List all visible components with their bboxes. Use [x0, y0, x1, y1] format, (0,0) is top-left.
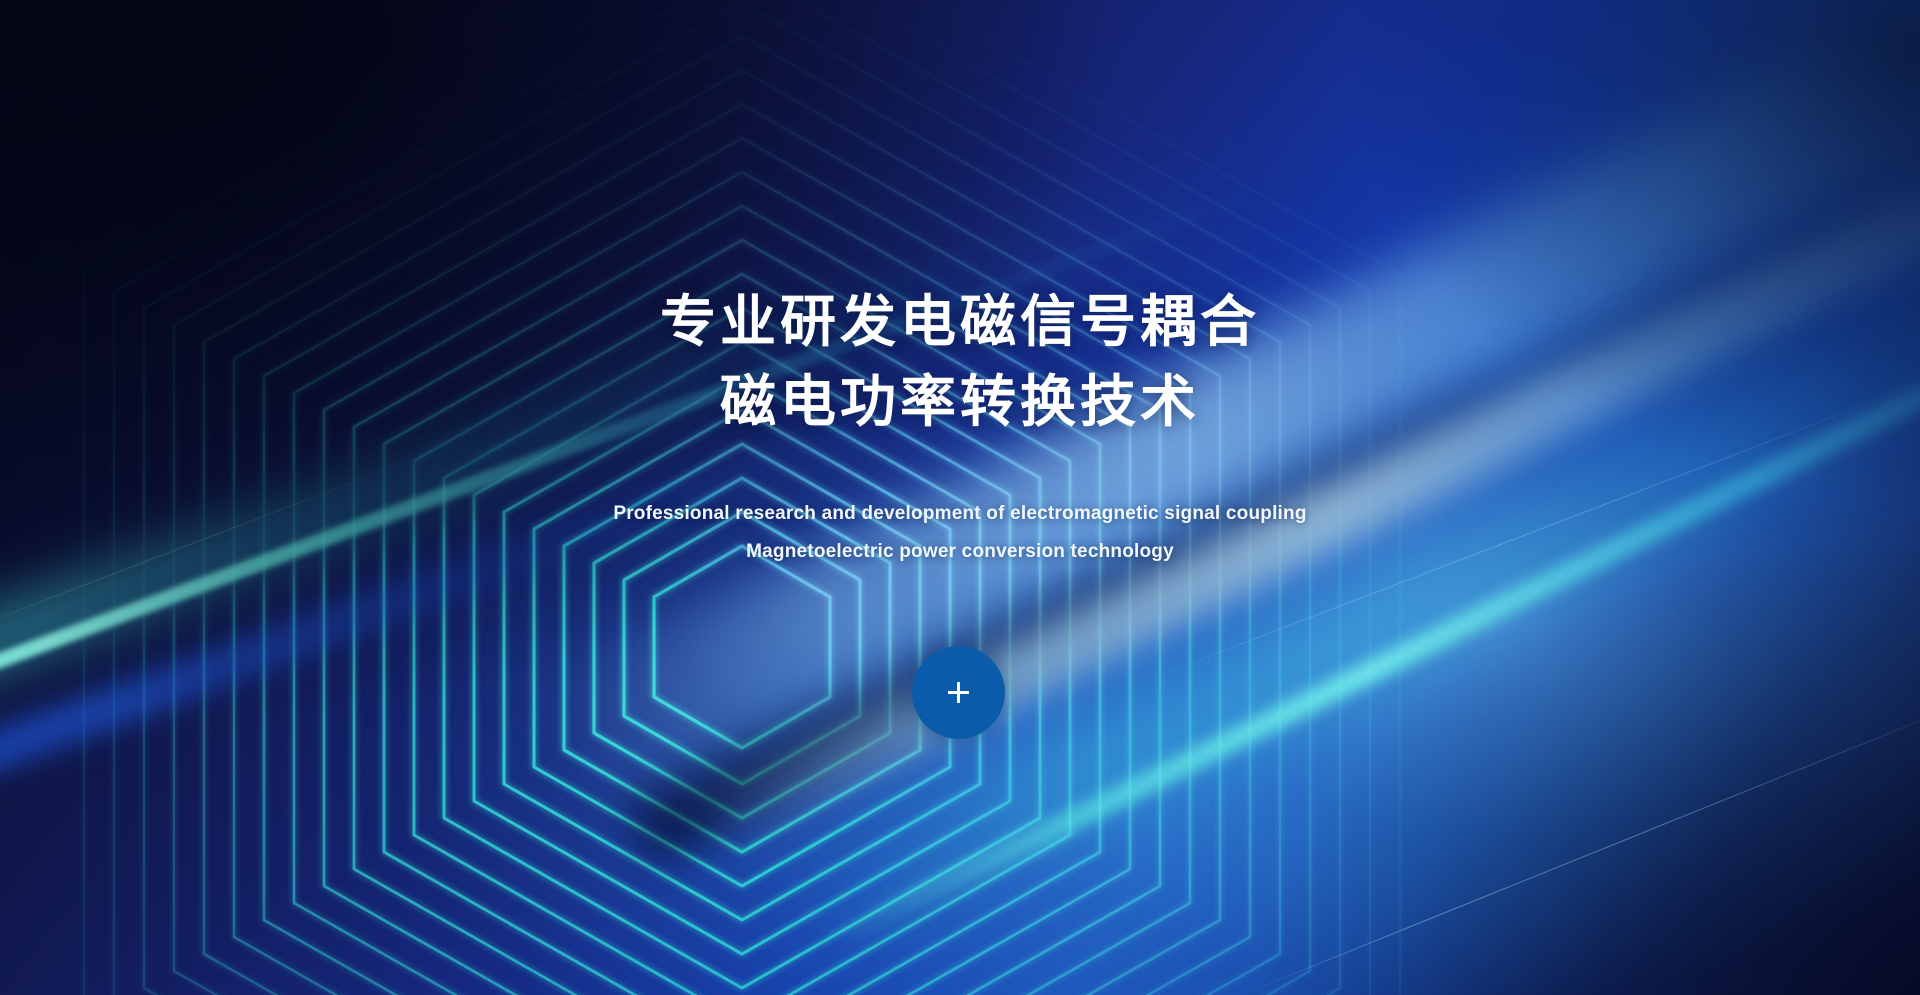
hero-subtitle: Professional research and development of… [0, 495, 1920, 571]
hero-title-line-2: 磁电功率转换技术 [0, 362, 1920, 442]
hero-subtitle-line-1: Professional research and development of… [0, 495, 1920, 533]
hero-title-line-1: 专业研发电磁信号耦合 [0, 282, 1920, 362]
hero-banner: 专业研发电磁信号耦合 磁电功率转换技术 Professional researc… [0, 0, 1920, 995]
expand-plus-button[interactable] [912, 646, 1005, 739]
hero-title: 专业研发电磁信号耦合 磁电功率转换技术 [0, 282, 1920, 442]
hero-subtitle-line-2: Magnetoelectric power conversion technol… [0, 533, 1920, 571]
plus-icon [948, 682, 969, 703]
